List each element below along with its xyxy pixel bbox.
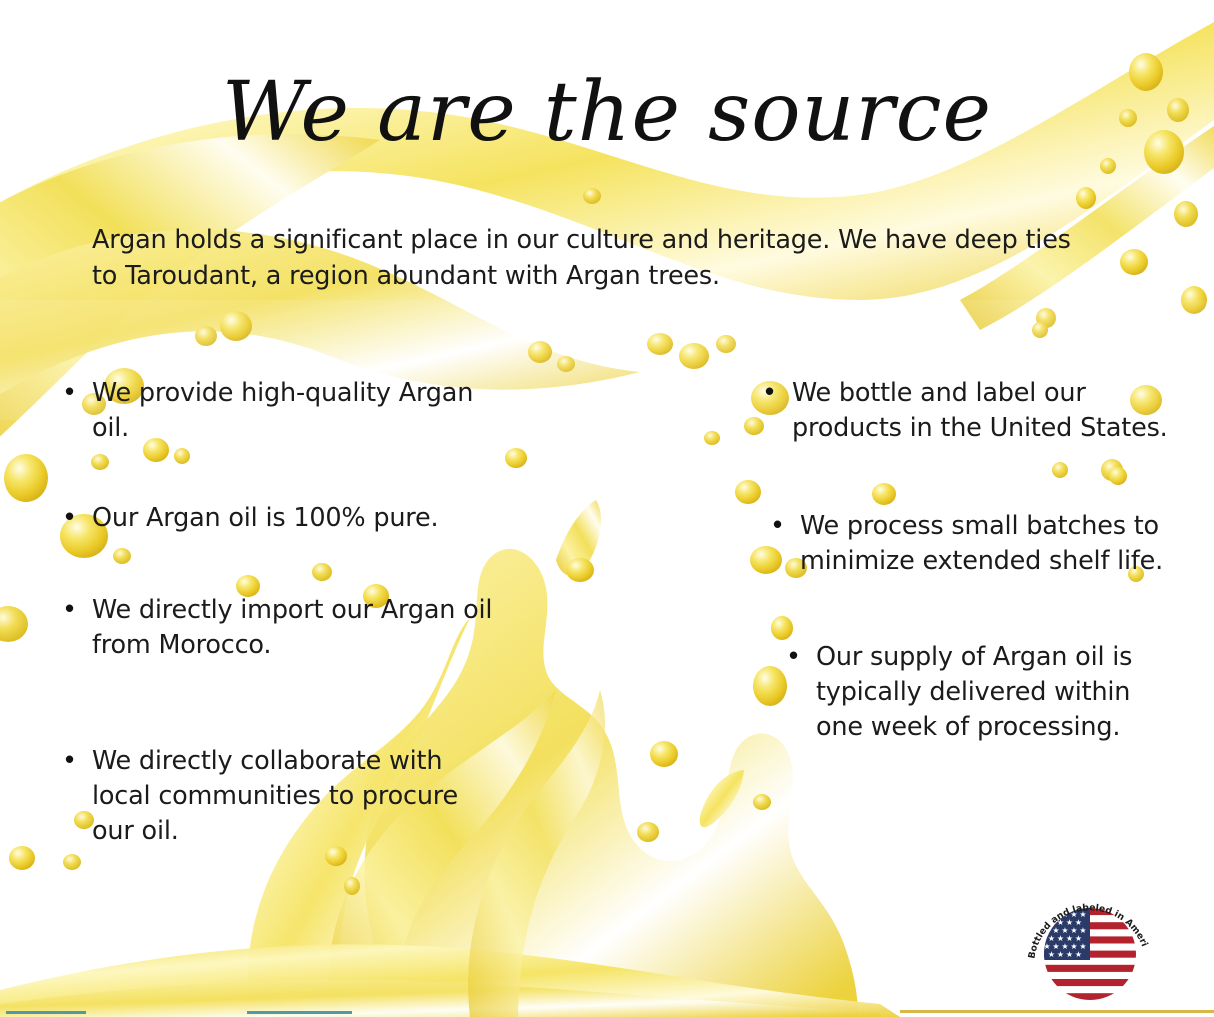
footer-gold-rule bbox=[900, 1010, 1214, 1013]
list-item: • Our supply of Argan oil is typically d… bbox=[786, 640, 1180, 745]
list-item-label: We process small batches to minimize ext… bbox=[800, 509, 1180, 579]
bullet-marker-icon: • bbox=[62, 376, 92, 411]
bullet-column-left: • We provide high-quality Argan oil. • O… bbox=[62, 376, 502, 849]
svg-text:★: ★ bbox=[1048, 950, 1055, 959]
bullet-marker-icon: • bbox=[786, 640, 816, 675]
slide-canvas: We are the source Argan holds a signific… bbox=[0, 0, 1214, 1017]
list-item-label: Our Argan oil is 100% pure. bbox=[92, 501, 502, 536]
list-item: • We provide high-quality Argan oil. bbox=[62, 376, 502, 446]
footer-teal-rule-mid bbox=[247, 1011, 352, 1014]
oil-bottom-wash-light bbox=[0, 980, 880, 1017]
list-item: • We directly collaborate with local com… bbox=[62, 744, 502, 849]
bullet-column-right: • We bottle and label our products in th… bbox=[750, 376, 1180, 745]
made-in-america-badge: ★★★★★ ★★★★ ★★★★★ ★★★★ ★★★★★ ★★★★ Bottled… bbox=[1024, 884, 1152, 1012]
bullet-marker-icon: • bbox=[770, 509, 800, 544]
list-item-label: We directly import our Argan oil from Mo… bbox=[92, 593, 502, 663]
list-item-label: We bottle and label our products in the … bbox=[792, 376, 1180, 446]
oil-flick-a bbox=[556, 500, 601, 576]
list-item: • We process small batches to minimize e… bbox=[770, 509, 1180, 579]
svg-text:★: ★ bbox=[1066, 950, 1073, 959]
bullet-marker-icon: • bbox=[62, 744, 92, 779]
list-item: • Our Argan oil is 100% pure. bbox=[62, 501, 502, 536]
svg-text:★: ★ bbox=[1057, 950, 1064, 959]
list-item-label: We directly collaborate with local commu… bbox=[92, 744, 502, 849]
list-item-label: Our supply of Argan oil is typically del… bbox=[816, 640, 1180, 745]
bullet-marker-icon: • bbox=[62, 593, 92, 628]
svg-text:★: ★ bbox=[1075, 950, 1082, 959]
bullet-marker-icon: • bbox=[62, 501, 92, 536]
bullet-marker-icon: • bbox=[762, 376, 792, 411]
list-item-label: We provide high-quality Argan oil. bbox=[92, 376, 502, 446]
oil-flick-b bbox=[700, 770, 744, 827]
page-title: We are the source bbox=[0, 72, 1214, 154]
footer-teal-rule-left bbox=[6, 1011, 86, 1014]
list-item: • We directly import our Argan oil from … bbox=[62, 593, 502, 663]
oil-bottom-wash bbox=[0, 944, 900, 1017]
list-item: • We bottle and label our products in th… bbox=[762, 376, 1180, 446]
intro-paragraph: Argan holds a significant place in our c… bbox=[92, 222, 1092, 294]
